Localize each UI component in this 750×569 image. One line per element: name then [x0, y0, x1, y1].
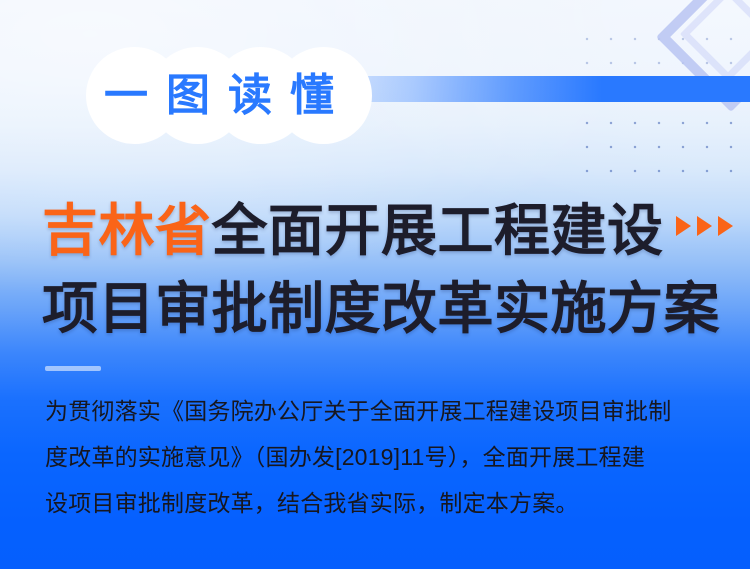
badge: 一图读懂 — [86, 47, 376, 144]
infographic-poster: 一图读懂 吉林省全面开展工程建设 项目审批制度改革实施方案 为贯彻落实《国务院办… — [0, 0, 750, 569]
headline-rest-text: 全面开展工程建设 — [212, 199, 664, 262]
body-line: 度改革的实施意见》（国办发[2019]11号），全面开展工程建 — [45, 434, 707, 480]
body-line: 设项目审批制度改革，结合我省实际，制定本方案。 — [45, 480, 707, 526]
body-line: 为贯彻落实《国务院办公厅关于全面开展工程建设项目审批制 — [45, 388, 707, 434]
divider — [45, 366, 101, 371]
headline-line-2: 项目审批制度改革实施方案 — [42, 270, 742, 348]
headline-line-1: 吉林省全面开展工程建设 — [42, 178, 742, 270]
badge-label: 一图读懂 — [86, 47, 376, 144]
headline-accent-text: 吉林省 — [42, 199, 212, 262]
arrow-triangles-icon — [676, 178, 733, 256]
page-title: 吉林省全面开展工程建设 项目审批制度改革实施方案 — [42, 178, 742, 348]
body-paragraph: 为贯彻落实《国务院办公厅关于全面开展工程建设项目审批制 度改革的实施意见》（国办… — [45, 388, 707, 526]
